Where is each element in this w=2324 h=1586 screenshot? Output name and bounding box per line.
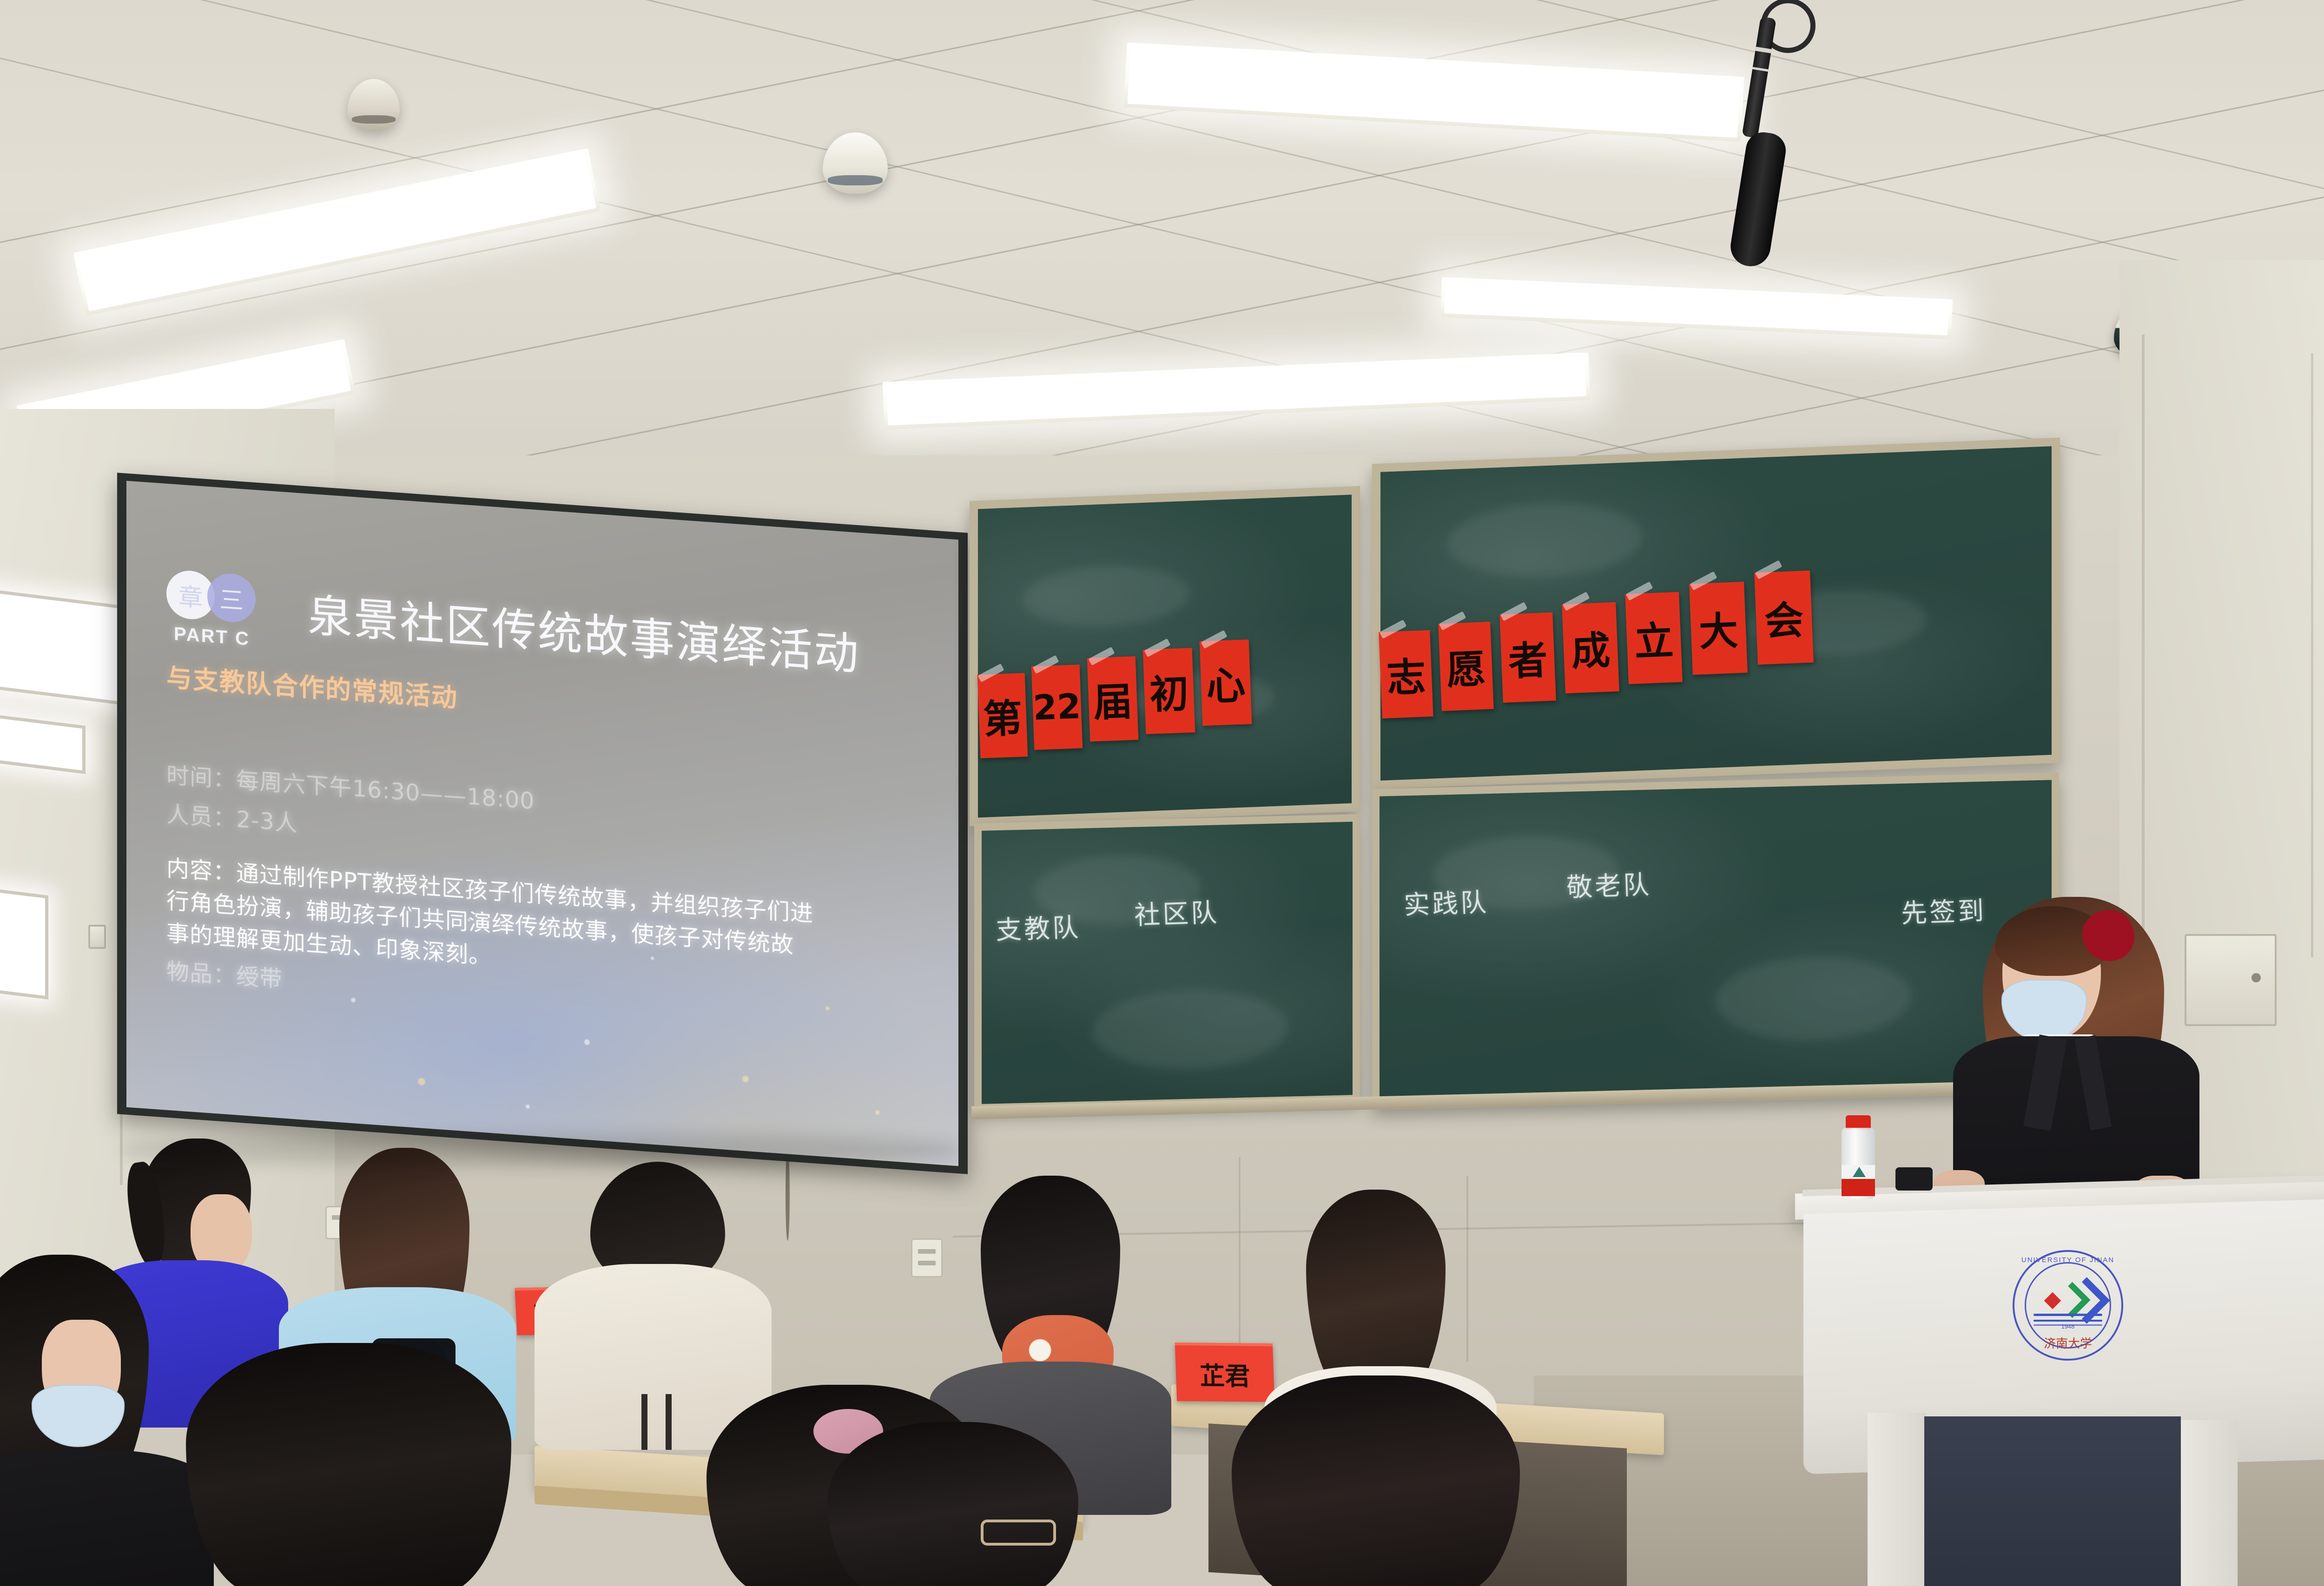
left-wall-box — [88, 925, 106, 949]
bottle-cap — [1846, 1115, 1871, 1130]
banner-card-4: 心 — [1200, 639, 1252, 726]
student-hair-7 — [186, 1343, 511, 1586]
banner-card-6: 愿 — [1438, 622, 1493, 711]
blackboard-left-lower — [982, 822, 1353, 1104]
student-right-long-hair — [1232, 1375, 1529, 1586]
wall-seam-right-1 — [2142, 335, 2145, 976]
podium-center-panel — [1924, 1416, 2181, 1586]
ceiling — [0, 0, 2324, 493]
window-bottom-left — [0, 887, 48, 1000]
banner-card-8: 成 — [1562, 602, 1619, 694]
wall-vertical-seam-a — [1239, 1157, 1241, 1352]
bottle-mountain-icon — [1853, 1167, 1866, 1177]
student-front-body — [0, 1450, 214, 1586]
banner-card-0: 第 — [977, 673, 1028, 758]
banner-card-7: 者 — [1499, 612, 1556, 703]
projection-screen[interactable]: 章 三 PART C 泉景社区传统故事演绎活动 与支教队合作的常规活动 时间：每… — [126, 481, 958, 1166]
banner-card-11: 会 — [1754, 571, 1814, 665]
bottle-body — [1842, 1128, 1875, 1199]
water-bottle[interactable] — [1842, 1115, 1875, 1199]
student-hair-10 — [1232, 1375, 1520, 1586]
podium-left-leg — [1868, 1413, 1926, 1586]
chalk-text-shequdui: 社区队 — [1134, 892, 1220, 932]
banner-card-2: 届 — [1087, 656, 1139, 742]
hoodie-drawstring-right — [666, 1394, 672, 1450]
podium-right-leg — [2179, 1420, 2238, 1586]
student-front-glasses — [827, 1422, 1088, 1586]
chalk-text-shijiandui: 实践队 — [1403, 882, 1490, 922]
student-front-center — [186, 1343, 521, 1586]
screen-drop-shadow — [121, 1134, 957, 1166]
podium-remote-clicker[interactable] — [1895, 1167, 1933, 1191]
banner-card-9: 立 — [1625, 592, 1683, 684]
chalk-text-zhijiaodui: 支教队 — [995, 907, 1082, 947]
seal-chinese-text: 济南大学 — [2014, 1334, 2121, 1351]
classroom-scene: 章 三 PART C 泉景社区传统故事演绎活动 与支教队合作的常规活动 时间：每… — [0, 0, 2324, 1586]
university-seal: UNIVERSITY OF JINAN 1948 济南大学 — [2013, 1250, 2123, 1361]
slide-chapter-badges: 章 三 — [166, 569, 256, 624]
student-hair-9 — [827, 1422, 1078, 1586]
chalk-text-jinglaodui: 敬老队 — [1566, 864, 1652, 904]
bottle-label-red — [1842, 1179, 1875, 1196]
banner-card-3: 初 — [1143, 648, 1195, 734]
seal-english-text: UNIVERSITY OF JINAN — [2014, 1256, 2121, 1264]
banner-card-1: 22 — [1031, 665, 1083, 750]
hoodie-drawstring-left — [641, 1394, 647, 1450]
eyeglasses-icon — [981, 1520, 1056, 1546]
banner-card-5: 志 — [1379, 630, 1433, 718]
window-upper-left — [0, 588, 127, 706]
chapter-badge-san: 三 — [207, 572, 256, 624]
banner-card-10: 大 — [1689, 582, 1748, 675]
seal-year: 1948 — [2014, 1323, 2121, 1330]
wall-seam-right-2 — [2311, 353, 2313, 957]
